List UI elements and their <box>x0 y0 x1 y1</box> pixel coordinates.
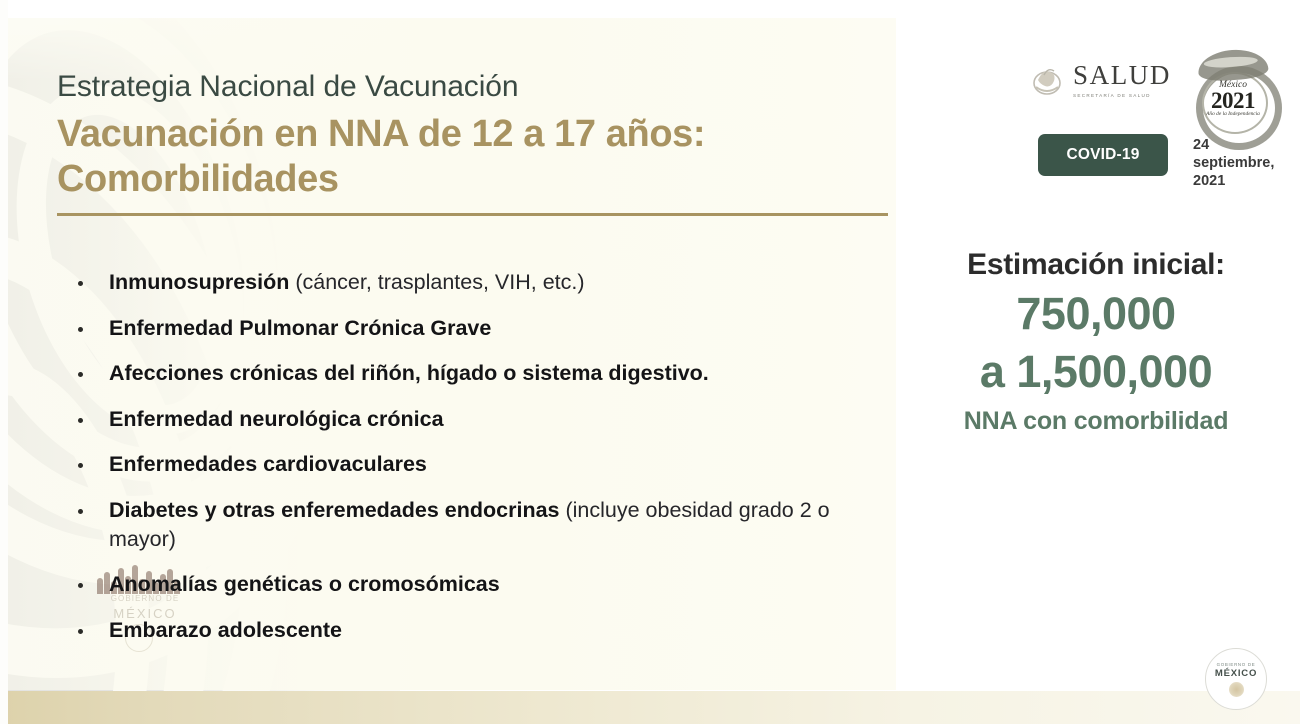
page-title: Vacunación en NNA de 12 a 17 años: Comor… <box>57 112 705 202</box>
bullet-dot-icon <box>78 583 83 588</box>
estimate-subtitle: NNA con comorbilidad <box>900 407 1292 436</box>
list-item: Anomalías genéticas o cromosómicas <box>72 570 882 599</box>
list-item-text: Enfermedad neurológica crónica <box>109 405 444 434</box>
seal-subtitle-label: Año de la Independencia <box>1190 111 1276 118</box>
date-year: 2021 <box>1193 172 1289 190</box>
list-item-bold: Anomalías genéticas o cromosómicas <box>109 572 500 596</box>
list-item-text: Diabetes y otras enferemedades endocrina… <box>109 496 882 553</box>
list-item: Inmunosupresión (cáncer, trasplantes, VI… <box>72 268 882 297</box>
gobierno-logo-line-1: GOBIERNO DE <box>1217 662 1256 667</box>
list-item-text: Afecciones crónicas del riñón, hígado o … <box>109 359 709 388</box>
bullet-dot-icon <box>78 327 83 332</box>
slide-canvas: Estrategia Nacional de Vacunación Vacuna… <box>0 0 1300 724</box>
left-white-gutter <box>0 0 8 724</box>
list-item-text: Inmunosupresión (cáncer, trasplantes, VI… <box>109 268 585 297</box>
estimate-panel: Estimación inicial: 750,000 a 1,500,000 … <box>900 248 1292 436</box>
bullet-dot-icon <box>78 372 83 377</box>
bullet-dot-icon <box>78 509 83 514</box>
salud-title: SALUD <box>1073 62 1171 89</box>
estimate-number-line-1: 750,000 <box>900 288 1292 340</box>
salud-logo: SALUD SECRETARÍA DE SALUD <box>1030 62 1171 98</box>
slide-date: 24 septiembre, 2021 <box>1193 136 1289 190</box>
list-item: Diabetes y otras enferemedades endocrina… <box>72 496 882 553</box>
list-item-text: Anomalías genéticas o cromosómicas <box>109 570 500 599</box>
bullet-dot-icon <box>78 418 83 423</box>
bullet-dot-icon <box>78 281 83 286</box>
covid-19-badge: COVID-19 <box>1038 134 1168 176</box>
list-item-bold: Enfermedad neurológica crónica <box>109 407 444 431</box>
gobierno-de-mexico-logo: GOBIERNO DE MÉXICO <box>1205 648 1267 710</box>
gobierno-logo-line-2: MÉXICO <box>1215 668 1257 679</box>
list-item-text: Enfermedades cardiovaculares <box>109 450 427 479</box>
list-item-bold: Diabetes y otras enferemedades endocrina… <box>109 498 560 522</box>
list-item: Afecciones crónicas del riñón, hígado o … <box>72 359 882 388</box>
list-item-bold: Embarazo adolescente <box>109 618 342 642</box>
bullet-dot-icon <box>78 463 83 468</box>
header-kicker: Estrategia Nacional de Vacunación <box>57 70 705 103</box>
list-item-rest: (cáncer, trasplantes, VIH, etc.) <box>289 270 584 294</box>
comorbidity-list: Inmunosupresión (cáncer, trasplantes, VI… <box>72 268 882 661</box>
bullet-dot-icon <box>78 629 83 634</box>
list-item-bold: Inmunosupresión <box>109 270 289 294</box>
bottom-accent-bar <box>0 691 1300 724</box>
list-item-bold: Enfermedades cardiovaculares <box>109 452 427 476</box>
logo-cluster: SALUD SECRETARÍA DE SALUD México 2021 Añ… <box>1020 48 1292 198</box>
seal-year-label: 2021 <box>1190 89 1276 112</box>
header-divider <box>57 213 888 216</box>
estimate-number-line-2: a 1,500,000 <box>900 346 1292 398</box>
estimate-title: Estimación inicial: <box>900 248 1292 282</box>
list-item-bold: Afecciones crónicas del riñón, hígado o … <box>109 361 709 385</box>
list-item-bold: Enfermedad Pulmonar Crónica Grave <box>109 316 491 340</box>
page-title-line-1: Vacunación en NNA de 12 a 17 años: <box>57 112 705 157</box>
list-item: Enfermedad neurológica crónica <box>72 405 882 434</box>
list-item: Enfermedad Pulmonar Crónica Grave <box>72 314 882 343</box>
salud-wordmark: SALUD SECRETARÍA DE SALUD <box>1073 62 1171 98</box>
date-day: 24 <box>1193 136 1289 154</box>
covid-19-badge-label: COVID-19 <box>1066 146 1139 164</box>
salud-subtitle: SECRETARÍA DE SALUD <box>1073 93 1171 98</box>
gobierno-logo-emblem-icon <box>1229 682 1244 697</box>
date-month: septiembre, <box>1193 154 1289 172</box>
eagle-emblem-icon <box>1030 63 1064 97</box>
mexico-2021-seal: México 2021 Año de la Independencia <box>1190 48 1276 140</box>
list-item-text: Enfermedad Pulmonar Crónica Grave <box>109 314 491 343</box>
top-white-band <box>0 0 1300 18</box>
page-title-line-2: Comorbilidades <box>57 157 705 202</box>
slide-header: Estrategia Nacional de Vacunación Vacuna… <box>57 70 705 202</box>
list-item: Embarazo adolescente <box>72 616 882 645</box>
list-item: Enfermedades cardiovaculares <box>72 450 882 479</box>
list-item-text: Embarazo adolescente <box>109 616 342 645</box>
